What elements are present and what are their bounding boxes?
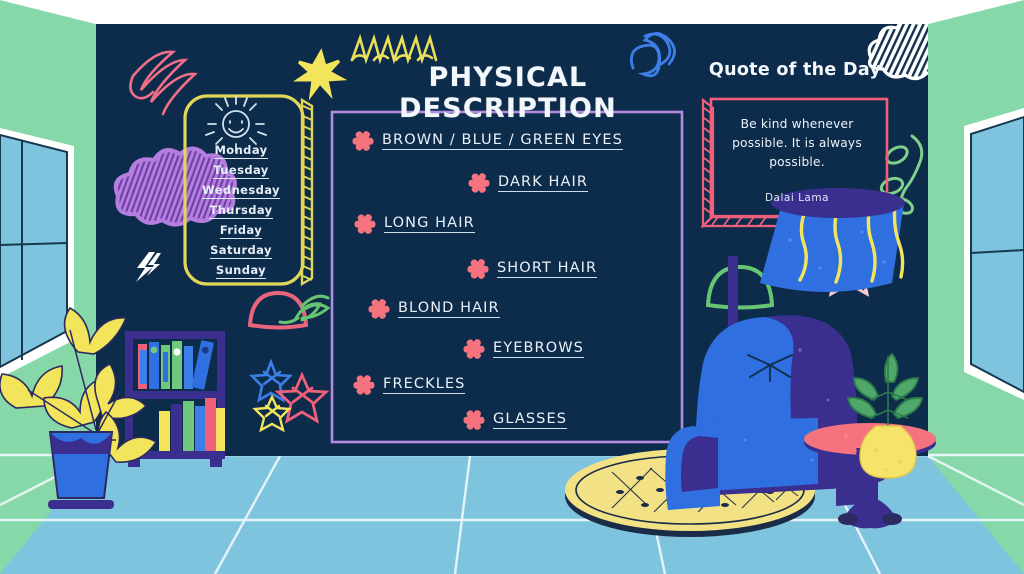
list-item: BLOND HAIR: [368, 298, 500, 320]
day-item: Saturday: [210, 245, 272, 259]
list-item-label: GLASSES: [493, 411, 567, 429]
list-item: EYEBROWS: [463, 338, 584, 360]
left-window-art: [0, 128, 74, 378]
day-item: Wednesday: [202, 185, 280, 199]
quote-heading: Quote of the Day: [700, 60, 890, 80]
list-item-label: BROWN / BLUE / GREEN EYES: [382, 132, 623, 150]
asterisk-flower-icon: [368, 298, 390, 320]
illustration-scene: PHYSICAL DESCRIPTION Monday Tuesday Wedn…: [0, 0, 1024, 574]
days-of-week-panel: Monday Tuesday Wednesday Thursday Friday…: [186, 145, 296, 285]
list-item: SHORT HAIR: [467, 258, 597, 280]
list-item-label: SHORT HAIR: [497, 260, 597, 278]
asterisk-flower-icon: [468, 172, 490, 194]
asterisk-flower-icon: [467, 258, 489, 280]
day-item: Monday: [214, 145, 267, 159]
asterisk-flower-icon: [354, 213, 376, 235]
list-item: LONG HAIR: [354, 213, 475, 235]
quote-author: Dalai Lama: [713, 192, 881, 204]
list-item: FRECKLES: [353, 374, 465, 396]
list-item-label: DARK HAIR: [498, 174, 588, 192]
list-item: BROWN / BLUE / GREEN EYES: [352, 130, 623, 152]
list-item-label: FRECKLES: [383, 376, 465, 394]
list-item-label: LONG HAIR: [384, 215, 475, 233]
day-item: Friday: [220, 225, 262, 239]
list-item: DARK HAIR: [468, 172, 588, 194]
quote-text: Be kind whenever possible. It is always …: [713, 115, 881, 172]
day-item: Tuesday: [213, 165, 268, 179]
asterisk-flower-icon: [353, 374, 375, 396]
list-item: GLASSES: [463, 409, 567, 431]
list-item-label: BLOND HAIR: [398, 300, 500, 318]
asterisk-flower-icon: [352, 130, 374, 152]
list-item-label: EYEBROWS: [493, 340, 584, 358]
physical-description-list: BROWN / BLUE / GREEN EYES DARK HAIR LONG…: [332, 112, 682, 442]
right-window-art: [964, 108, 1024, 400]
day-item: Thursday: [209, 205, 272, 219]
asterisk-flower-icon: [463, 409, 485, 431]
day-item: Sunday: [216, 265, 266, 279]
asterisk-flower-icon: [463, 338, 485, 360]
